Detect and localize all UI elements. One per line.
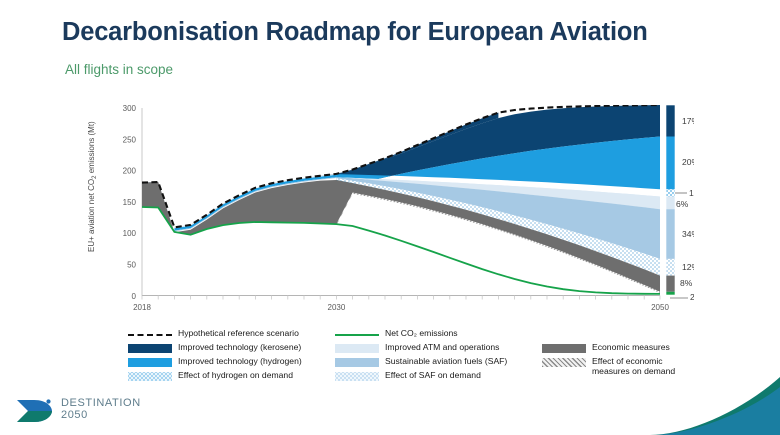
legend-column-1: Hypothetical reference scenario Improved… xyxy=(128,328,328,384)
pct-saf-demand: 12% xyxy=(682,262,694,272)
legend-item-improved-technology-hydrogen: Improved technology (hydrogen) xyxy=(128,356,328,370)
legend-item-effect-of-hydrogen-on-demand: Effect of hydrogen on demand xyxy=(128,370,328,384)
legend-item-hypothetical-reference-scenario: Hypothetical reference scenario xyxy=(128,328,328,342)
legend-label: Effect of economic measures on demand xyxy=(592,356,700,377)
svg-text:50: 50 xyxy=(127,261,136,270)
legend-item-net-co2-emissions: Net CO₂ emissions xyxy=(335,328,535,342)
contribution-summary-bar xyxy=(666,105,675,295)
legend-label: Effect of SAF on demand xyxy=(385,370,481,381)
hatched-swatch-hydrogen-demand-icon xyxy=(128,372,172,381)
destination-2050-logo: DESTINATION 2050 xyxy=(14,397,164,427)
legend-item-effect-of-saf-on-demand: Effect of SAF on demand xyxy=(335,370,535,384)
legend-column-3: Economic measures Effect of economic mea… xyxy=(542,328,712,377)
chart-svg: EU+ aviation net CO2 emissions (Mt) 300 … xyxy=(84,100,694,315)
x-axis-minor-ticks xyxy=(142,296,660,300)
pct-economic: 8% xyxy=(680,278,693,288)
legend-label: Improved ATM and operations xyxy=(385,342,499,353)
pct-hydrogen-demand: 1% xyxy=(689,188,694,198)
legend-item-sustainable-aviation-fuels: Sustainable aviation fuels (SAF) xyxy=(335,356,535,370)
logo-mark-icon xyxy=(14,397,56,425)
green-line-swatch-icon xyxy=(335,330,379,339)
legend-label: Hypothetical reference scenario xyxy=(178,328,299,339)
stacked-bands xyxy=(142,105,660,294)
legend-item-economic-measures: Economic measures xyxy=(542,342,712,356)
legend-column-2: Net CO₂ emissions Improved ATM and opera… xyxy=(335,328,535,384)
legend-label: Economic measures xyxy=(592,342,670,353)
pct-hydrogen: 20% xyxy=(682,157,694,167)
color-swatch-hydrogen-icon xyxy=(128,358,172,367)
svg-text:250: 250 xyxy=(123,135,137,144)
page-title: Decarbonisation Roadmap for European Avi… xyxy=(62,18,648,47)
pct-atm: 6% xyxy=(676,199,689,209)
dashed-line-swatch-icon xyxy=(128,330,172,339)
slide-canvas: Decarbonisation Roadmap for European Avi… xyxy=(0,0,780,435)
page-subtitle: All flights in scope xyxy=(65,62,173,77)
logo-line-1: DESTINATION xyxy=(61,397,141,409)
pct-saf: 34% xyxy=(682,229,694,239)
logo-line-2: 2050 xyxy=(61,409,141,421)
svg-text:100: 100 xyxy=(123,229,137,238)
color-swatch-saf-icon xyxy=(335,358,379,367)
svg-text:300: 300 xyxy=(123,104,137,113)
hatched-swatch-saf-demand-icon xyxy=(335,372,379,381)
legend-label: Sustainable aviation fuels (SAF) xyxy=(385,356,507,367)
pct-net-remaining: 2% xyxy=(690,292,694,302)
color-swatch-atm-icon xyxy=(335,344,379,353)
svg-text:2030: 2030 xyxy=(328,303,346,312)
y-axis-ticks: 300 250 200 150 100 50 0 xyxy=(123,104,137,301)
logo-wordmark: DESTINATION 2050 xyxy=(61,397,141,421)
legend-item-improved-technology-kerosene: Improved technology (kerosene) xyxy=(128,342,328,356)
svg-text:150: 150 xyxy=(123,198,137,207)
legend-item-improved-atm-and-operations: Improved ATM and operations xyxy=(335,342,535,356)
hatched-swatch-economic-demand-icon xyxy=(542,358,586,367)
color-swatch-kerosene-icon xyxy=(128,344,172,353)
legend-label: Net CO₂ emissions xyxy=(385,328,458,339)
emissions-area-chart: EU+ aviation net CO2 emissions (Mt) 300 … xyxy=(84,100,694,315)
y-axis-title: EU+ aviation net CO2 emissions (Mt) xyxy=(87,121,98,252)
svg-text:2050: 2050 xyxy=(651,303,669,312)
svg-text:200: 200 xyxy=(123,167,137,176)
svg-text:2018: 2018 xyxy=(133,303,151,312)
chart-legend: Hypothetical reference scenario Improved… xyxy=(128,328,698,384)
corner-swoosh-decoration xyxy=(650,377,780,435)
color-swatch-economic-measures-icon xyxy=(542,344,586,353)
legend-label: Effect of hydrogen on demand xyxy=(178,370,293,381)
x-axis-ticks: 2018 2030 2050 xyxy=(133,303,669,312)
legend-item-effect-of-economic-measures-on-demand: Effect of economic measures on demand xyxy=(542,356,712,377)
legend-label: Improved technology (hydrogen) xyxy=(178,356,302,367)
pct-kerosene: 17% xyxy=(682,116,694,126)
legend-label: Improved technology (kerosene) xyxy=(178,342,301,353)
svg-text:0: 0 xyxy=(132,292,137,301)
